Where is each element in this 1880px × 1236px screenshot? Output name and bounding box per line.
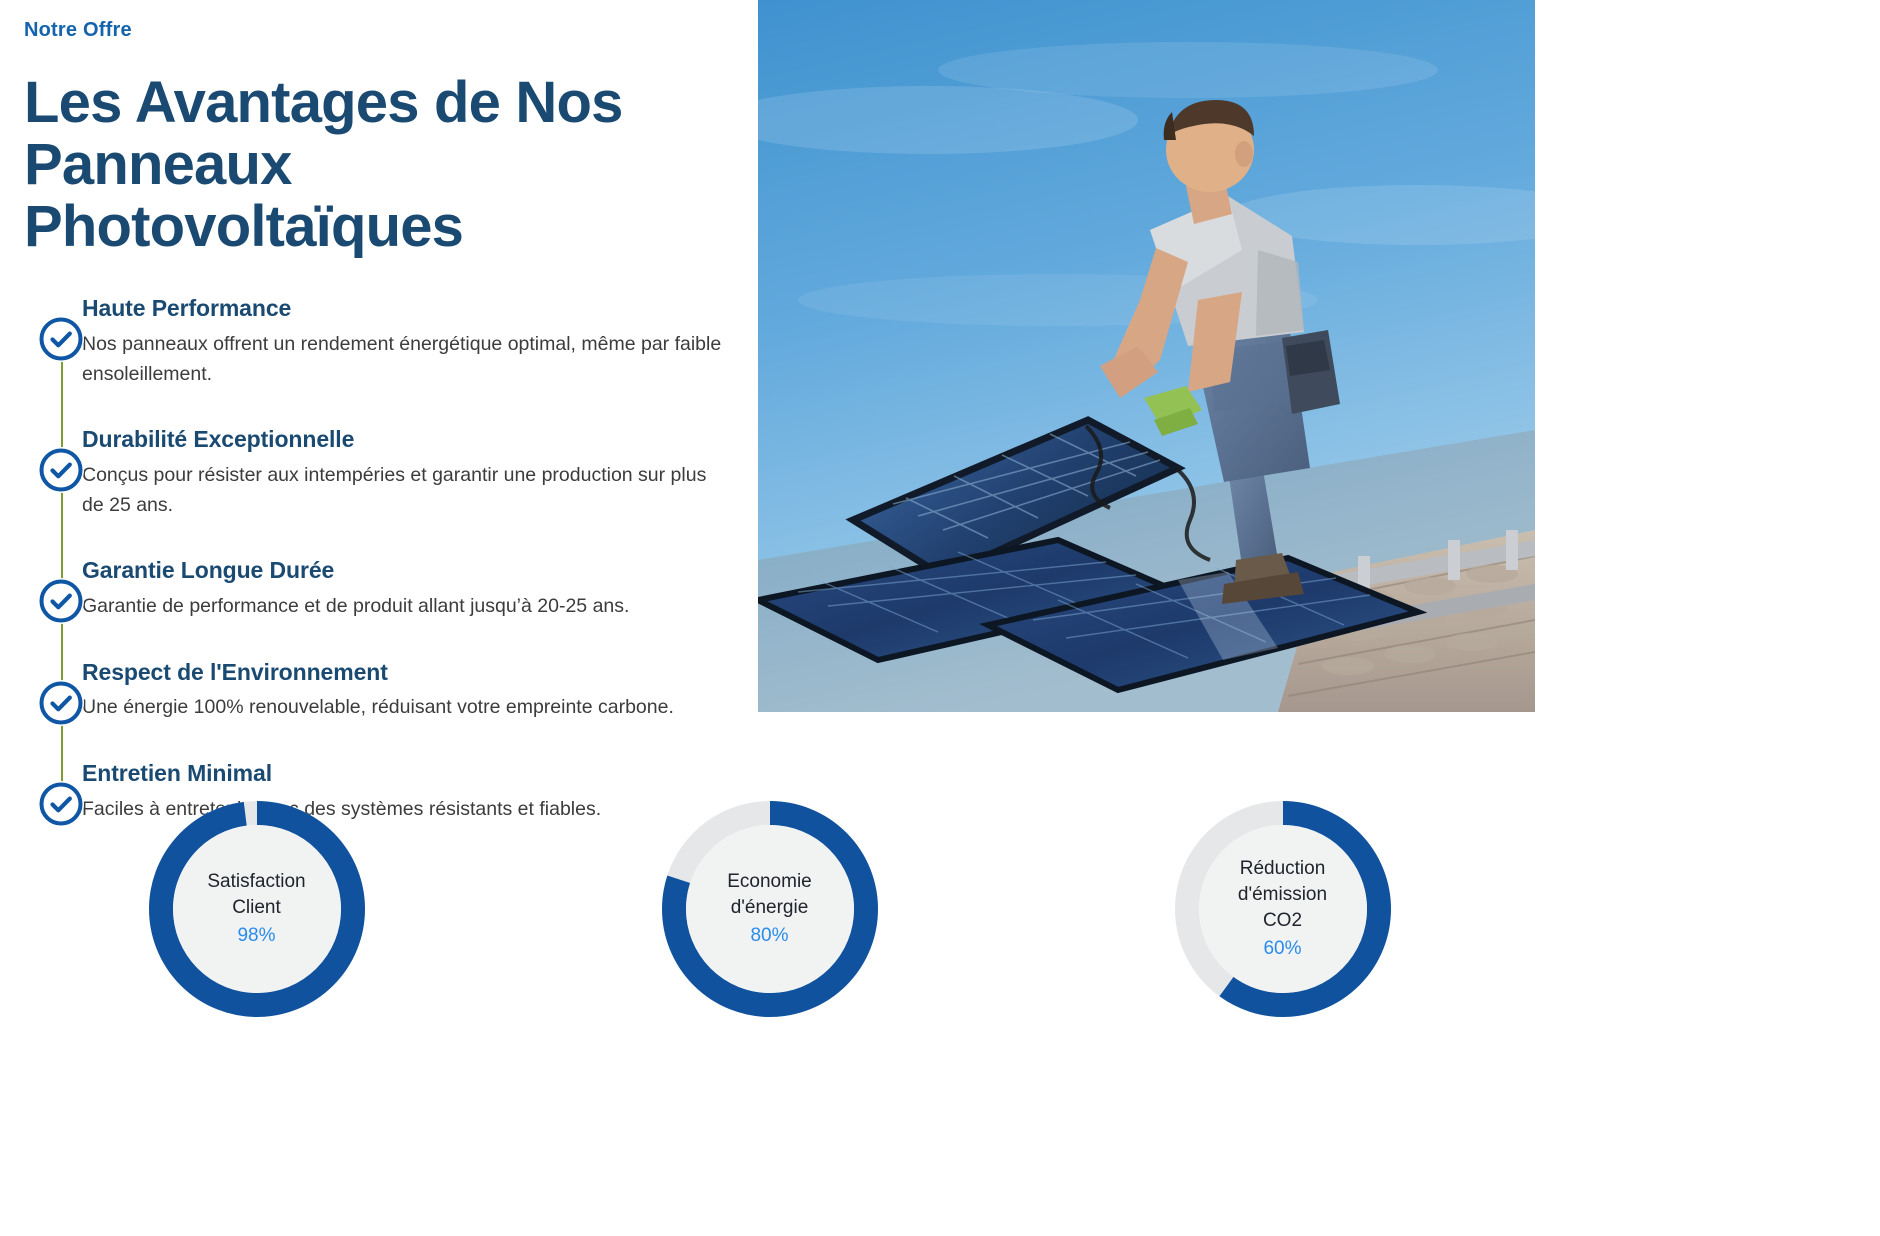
features-list: Haute Performance Nos panneaux offrent u…	[24, 294, 736, 824]
feature-description: Une énergie 100% renouvelable, réduisant…	[82, 693, 732, 723]
stats-row: Satisfaction Client 98% Economie d'énerg…	[0, 795, 1540, 1065]
hero-photo	[758, 0, 1535, 712]
circle-check-icon	[38, 447, 84, 493]
feature-item: Durabilité Exceptionnelle Conçus pour ré…	[24, 425, 736, 520]
feature-description: Nos panneaux offrent un rendement énergé…	[82, 330, 732, 389]
donut-chart-economie: Economie d'énergie 80%	[656, 795, 884, 1023]
circle-check-icon	[38, 781, 84, 827]
donut-chart-satisfaction: Satisfaction Client 98%	[143, 795, 371, 1023]
stat-cell: Economie d'énergie 80%	[513, 795, 1026, 1065]
feature-title: Garantie Longue Durée	[82, 556, 736, 585]
feature-description: Conçus pour résister aux intempéries et …	[82, 461, 732, 520]
feature-text: Durabilité Exceptionnelle Conçus pour ré…	[82, 425, 736, 520]
donut-inner-disc	[686, 825, 854, 993]
feature-title: Respect de l'Environnement	[82, 658, 736, 687]
feature-text: Garantie Longue Durée Garantie de perfor…	[82, 556, 736, 621]
donut-inner-disc	[173, 825, 341, 993]
circle-check-icon	[38, 680, 84, 726]
circle-check-icon	[38, 316, 84, 362]
feature-text: Haute Performance Nos panneaux offrent u…	[82, 294, 736, 389]
feature-text: Respect de l'Environnement Une énergie 1…	[82, 658, 736, 723]
page-title: Les Avantages de Nos Panneaux Photovolta…	[24, 72, 736, 258]
stat-cell: Réduction d'émission CO2 60%	[1026, 795, 1539, 1065]
feature-item: Haute Performance Nos panneaux offrent u…	[24, 294, 736, 389]
advantages-section: Notre Offre Les Avantages de Nos Panneau…	[0, 0, 1880, 1236]
feature-title: Durabilité Exceptionnelle	[82, 425, 736, 454]
feature-title: Entretien Minimal	[82, 759, 736, 788]
feature-title: Haute Performance	[82, 294, 736, 323]
feature-item: Garantie Longue Durée Garantie de perfor…	[24, 556, 736, 621]
feature-description: Garantie de performance et de produit al…	[82, 592, 732, 622]
circle-check-icon	[38, 578, 84, 624]
donut-inner-disc	[1199, 825, 1367, 993]
section-eyebrow: Notre Offre	[24, 18, 736, 42]
feature-item: Respect de l'Environnement Une énergie 1…	[24, 658, 736, 723]
stat-cell: Satisfaction Client 98%	[0, 795, 513, 1065]
donut-chart-co2: Réduction d'émission CO2 60%	[1169, 795, 1397, 1023]
